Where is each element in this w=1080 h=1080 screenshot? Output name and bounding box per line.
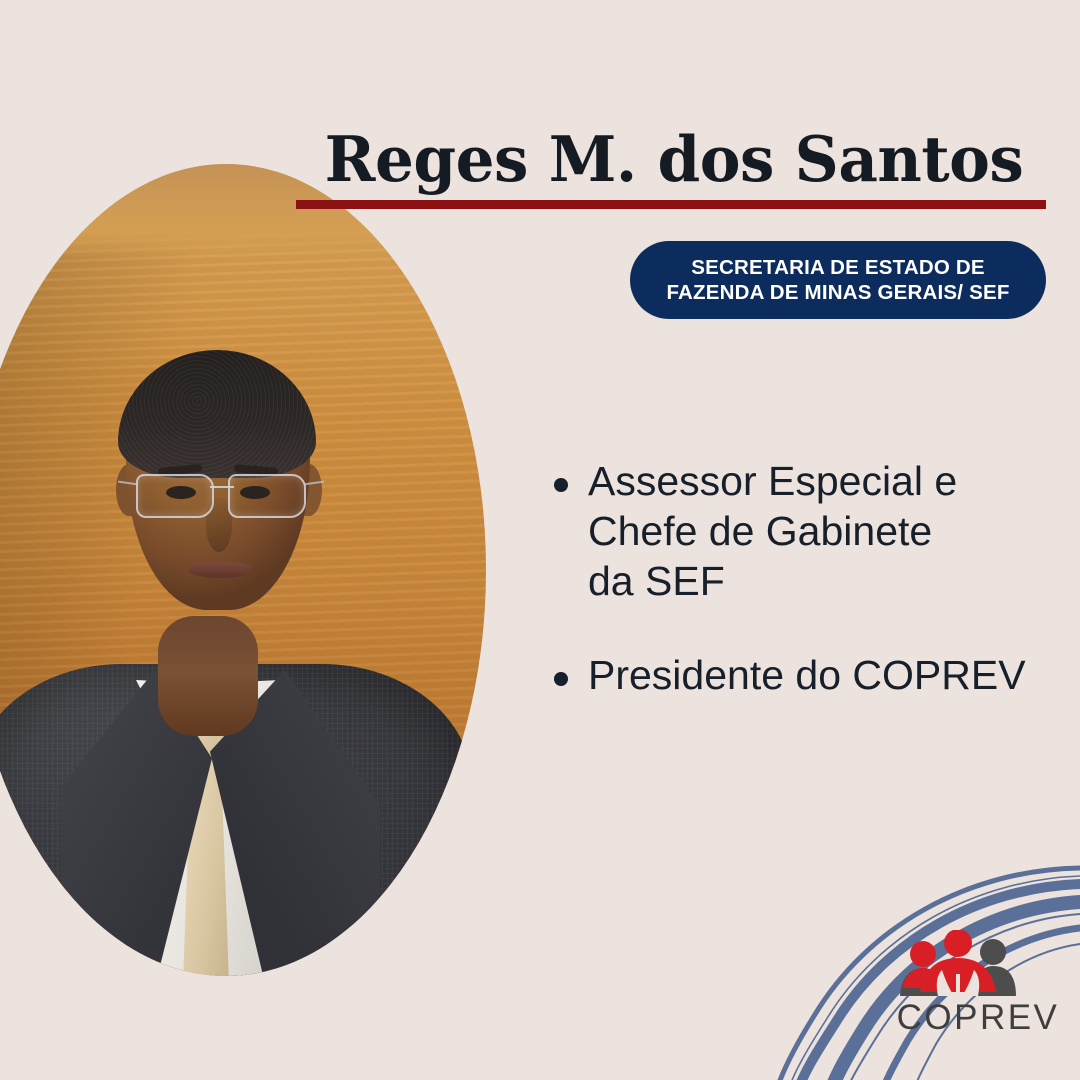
hair	[118, 350, 316, 478]
eyeglasses	[136, 474, 306, 518]
bullet-dot-icon	[554, 478, 568, 492]
title-divider-rule	[296, 200, 1046, 209]
organization-badge-label: SECRETARIA DE ESTADO DE FAZENDA DE MINAS…	[646, 255, 1030, 305]
list-item: Presidente do COPREV	[540, 650, 1060, 700]
neck	[158, 616, 258, 736]
glasses-lens-left	[136, 474, 214, 518]
portrait-photo	[0, 164, 486, 976]
coprev-logo: COPREV	[728, 840, 1080, 1080]
glasses-lens-right	[228, 474, 306, 518]
person-name: Reges M. dos Santos	[311, 122, 1037, 196]
role-label: Assessor Especial e Chefe de Gabinete da…	[588, 456, 957, 606]
profile-card: Reges M. dos Santos SECRETARIA DE ESTADO…	[0, 0, 1080, 1080]
mouth	[188, 562, 252, 578]
role-label: Presidente do COPREV	[588, 650, 1026, 700]
bullet-dot-icon	[554, 672, 568, 686]
coprev-wordmark: COPREV	[878, 998, 1078, 1038]
list-item: Assessor Especial e Chefe de Gabinete da…	[540, 456, 1060, 606]
three-people-icon	[898, 930, 1018, 996]
glasses-bridge	[210, 486, 234, 488]
roles-list: Assessor Especial e Chefe de Gabinete da…	[540, 456, 1060, 744]
portrait-image	[0, 164, 486, 976]
organization-badge: SECRETARIA DE ESTADO DE FAZENDA DE MINAS…	[630, 241, 1046, 319]
